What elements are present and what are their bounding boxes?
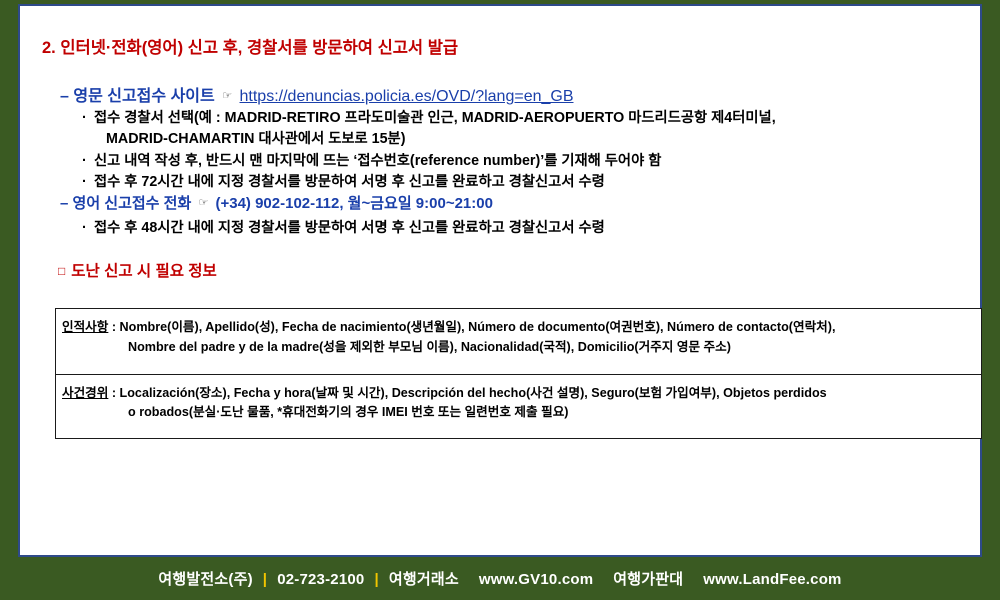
table-row-label: 인적사항 bbox=[62, 320, 108, 334]
list-item: ·접수 경찰서 선택(예 : MADRID-RETIRO 프라도미술관 인근, … bbox=[82, 106, 776, 127]
bullet-dot-icon: · bbox=[82, 174, 94, 190]
footer-partner1-name: 여행거래소 bbox=[389, 571, 459, 588]
square-bullet-icon: □ bbox=[58, 264, 71, 278]
pointing-hand-icon: ☞ bbox=[219, 90, 235, 102]
required-info-heading-text: 도난 신고 시 필요 정보 bbox=[71, 263, 217, 280]
footer-bar: 여행발전소(주)|02-723-2100|여행거래소www.GV10.com여행… bbox=[0, 557, 1000, 600]
section-site-header: – 영문 신고접수 사이트 ☞ https://denuncias.polici… bbox=[60, 82, 574, 106]
table-row-text: : Nombre(이름), Apellido(성), Fecha de naci… bbox=[108, 320, 835, 334]
table-row-line-continuation: o robados(분실·도난 물품, *휴대전화기의 경우 IMEI 번호 또… bbox=[62, 403, 981, 423]
denuncias-url-link[interactable]: https://denuncias.policia.es/OVD/?lang=e… bbox=[240, 88, 574, 105]
footer-partner1-site[interactable]: www.GV10.com bbox=[479, 571, 593, 588]
table-row-label: 사건경위 bbox=[62, 386, 108, 400]
section-phone-header: – 영어 신고접수 전화 ☞ (+34) 902-102-112, 월~금요일 … bbox=[60, 192, 493, 213]
police-phone-number: (+34) 902-102-112, 월~금요일 9:00~21:00 bbox=[215, 195, 492, 212]
dash-marker: – bbox=[60, 195, 68, 212]
bullet-dot-icon: · bbox=[82, 110, 94, 126]
list-item: ·접수 후 48시간 내에 지정 경찰서를 방문하여 서명 후 신고를 완료하고… bbox=[82, 216, 605, 237]
table-row-text: : Localización(장소), Fecha y hora(날짜 및 시간… bbox=[108, 386, 826, 400]
list-item: ·접수 후 72시간 내에 지정 경찰서를 방문하여 서명 후 신고를 완료하고… bbox=[82, 170, 605, 191]
table-row-line: 인적사항 : Nombre(이름), Apellido(성), Fecha de… bbox=[62, 318, 981, 338]
page-title: 2. 인터넷·전화(영어) 신고 후, 경찰서를 방문하여 신고서 발급 bbox=[42, 34, 458, 58]
footer-text: 여행발전소(주)|02-723-2100|여행거래소www.GV10.com여행… bbox=[158, 568, 841, 589]
footer-separator: | bbox=[263, 571, 267, 588]
table-row: 사건경위 : Localización(장소), Fecha y hora(날짜… bbox=[56, 374, 981, 439]
dash-marker: – bbox=[60, 88, 69, 105]
bullet-dot-icon: · bbox=[82, 153, 94, 169]
pointing-hand-icon: ☞ bbox=[195, 197, 211, 209]
table-row: 인적사항 : Nombre(이름), Apellido(성), Fecha de… bbox=[56, 309, 981, 374]
table-row-line: 사건경위 : Localización(장소), Fecha y hora(날짜… bbox=[62, 384, 981, 404]
slide-content-area: 2. 인터넷·전화(영어) 신고 후, 경찰서를 방문하여 신고서 발급 – 영… bbox=[18, 4, 982, 557]
section-phone-label: 영어 신고접수 전화 bbox=[73, 195, 192, 212]
footer-partner2-name: 여행가판대 bbox=[613, 571, 683, 588]
table-row-line-continuation: Nombre del padre y de la madre(성을 제외한 부모… bbox=[62, 338, 981, 358]
slide-canvas: 2. 인터넷·전화(영어) 신고 후, 경찰서를 방문하여 신고서 발급 – 영… bbox=[0, 0, 1000, 600]
list-item: ·신고 내역 작성 후, 반드시 맨 마지막에 뜨는 ‘접수번호(referen… bbox=[82, 149, 661, 170]
section-site-label: 영문 신고접수 사이트 bbox=[73, 88, 214, 105]
list-item-continuation: MADRID-CHAMARTIN 대사관에서 도보로 15분) bbox=[106, 127, 405, 148]
bullet-dot-icon: · bbox=[82, 220, 94, 236]
list-item-text: 접수 경찰서 선택(예 : MADRID-RETIRO 프라도미술관 인근, M… bbox=[94, 110, 776, 126]
required-info-heading: □도난 신고 시 필요 정보 bbox=[58, 259, 217, 281]
footer-partner2-site[interactable]: www.LandFee.com bbox=[703, 571, 841, 588]
required-info-table: 인적사항 : Nombre(이름), Apellido(성), Fecha de… bbox=[55, 308, 982, 439]
list-item-text: 신고 내역 작성 후, 반드시 맨 마지막에 뜨는 ‘접수번호(referenc… bbox=[94, 153, 661, 169]
footer-company: 여행발전소(주) bbox=[158, 571, 252, 588]
list-item-text: 접수 후 72시간 내에 지정 경찰서를 방문하여 서명 후 신고를 완료하고 … bbox=[94, 174, 605, 190]
footer-phone: 02-723-2100 bbox=[277, 571, 364, 588]
footer-separator: | bbox=[374, 571, 378, 588]
list-item-text: 접수 후 48시간 내에 지정 경찰서를 방문하여 서명 후 신고를 완료하고 … bbox=[94, 220, 605, 236]
